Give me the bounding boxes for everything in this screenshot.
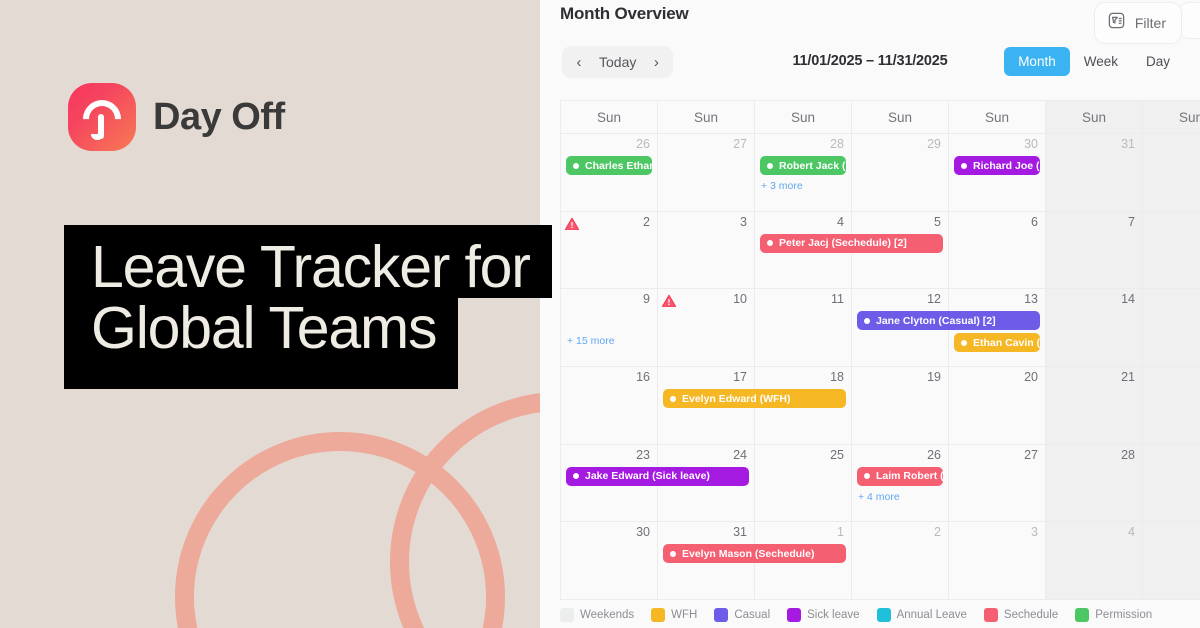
legend-label: Sick leave <box>807 609 859 621</box>
day-number: 5 <box>934 215 941 229</box>
day-cell[interactable]: 27 <box>658 134 755 212</box>
day-cell[interactable] <box>1143 445 1200 523</box>
calendar-event[interactable]: Evelyn Mason (Sechedule) <box>663 544 846 563</box>
event-status-dot <box>670 396 676 402</box>
day-number: 27 <box>1024 448 1038 462</box>
event-label: Peter Jacj (Sechedule) [2] <box>779 237 907 249</box>
app-toolbar: ‹ Today › 11/01/2025 – 11/31/2025 MonthW… <box>540 44 1200 88</box>
more-events-link[interactable]: + 3 more <box>761 180 803 192</box>
day-number: 13 <box>1024 292 1038 306</box>
event-label: Robert Jack (Pe <box>779 160 846 172</box>
day-cell[interactable]: 14 <box>1046 289 1143 367</box>
headline: Leave Tracker for Global Teams <box>64 225 552 389</box>
decor-ring-right <box>390 392 560 628</box>
day-cell[interactable] <box>1143 134 1200 212</box>
legend-item[interactable]: WFH <box>651 608 697 622</box>
calendar-body: 262728293031Charles Ethan (PRobert Jack … <box>561 134 1200 600</box>
weekday-header-0: Sun <box>561 101 658 134</box>
day-number: 31 <box>1121 137 1135 151</box>
legend-label: WFH <box>671 609 697 621</box>
day-number: 23 <box>636 448 650 462</box>
legend-swatch <box>1075 608 1089 622</box>
legend-label: Weekends <box>580 609 634 621</box>
calendar-event[interactable]: Richard Joe (Si <box>954 156 1040 175</box>
legend-label: Sechedule <box>1004 609 1058 621</box>
calendar-event[interactable]: Robert Jack (Pe <box>760 156 846 175</box>
day-number: 2 <box>934 525 941 539</box>
day-cell[interactable]: 21 <box>1046 367 1143 445</box>
headline-line-1: Leave Tracker for <box>64 225 552 298</box>
day-number: 20 <box>1024 370 1038 384</box>
legend-item[interactable]: Annual Leave <box>877 608 967 622</box>
event-label: Ethan Cavin (W <box>973 337 1040 349</box>
legend-swatch <box>560 608 574 622</box>
legend-item[interactable]: Casual <box>714 608 770 622</box>
day-number: 30 <box>636 525 650 539</box>
headline-line-2: Global Teams <box>64 298 458 389</box>
day-cell[interactable]: 9 <box>561 289 658 367</box>
calendar-event[interactable]: Evelyn Edward (WFH) <box>663 389 846 408</box>
legend-swatch <box>651 608 665 622</box>
month-calendar: SunSunSunSunSunSunSun 262728293031Charle… <box>560 100 1200 600</box>
view-option-week[interactable]: Week <box>1070 47 1132 76</box>
weekday-header-3: Sun <box>852 101 949 134</box>
calendar-week-row: 262728293031Charles Ethan (PRobert Jack … <box>561 134 1200 212</box>
day-off-logo-icon <box>68 83 136 151</box>
event-status-dot <box>573 163 579 169</box>
event-label: Jane Clyton (Casual) [2] <box>876 315 996 327</box>
day-number: 1 <box>837 525 844 539</box>
day-number: 10 <box>733 292 747 306</box>
event-status-dot <box>961 340 967 346</box>
day-cell[interactable]: 6 <box>949 212 1046 290</box>
day-cell[interactable]: 10 <box>658 289 755 367</box>
calendar-event[interactable]: Laim Robert (Sc <box>857 467 943 486</box>
weekday-header-2: Sun <box>755 101 852 134</box>
event-status-dot <box>864 318 870 324</box>
calendar-week-row: 232425262728Jake Edward (Sick leave)Laim… <box>561 445 1200 523</box>
calendar-event[interactable]: Charles Ethan (P <box>566 156 652 175</box>
weekday-header-1: Sun <box>658 101 755 134</box>
legend-swatch <box>714 608 728 622</box>
more-events-link[interactable]: + 15 more <box>567 335 615 347</box>
weekday-header-6: Sun <box>1143 101 1200 134</box>
day-cell[interactable]: 2 <box>852 522 949 600</box>
day-cell[interactable] <box>1143 522 1200 600</box>
legend-label: Annual Leave <box>897 609 967 621</box>
day-number: 19 <box>927 370 941 384</box>
event-status-dot <box>573 473 579 479</box>
legend-item[interactable]: Weekends <box>560 608 634 622</box>
day-cell[interactable]: 3 <box>949 522 1046 600</box>
event-label: Evelyn Edward (WFH) <box>682 393 791 405</box>
calendar-event[interactable]: Jane Clyton (Casual) [2] <box>857 311 1040 330</box>
weekday-header-5: Sun <box>1046 101 1143 134</box>
event-status-dot <box>864 473 870 479</box>
weekday-header-row: SunSunSunSunSunSunSun <box>561 101 1200 134</box>
day-cell[interactable]: 2 <box>561 212 658 290</box>
view-option-day[interactable]: Day <box>1132 47 1184 76</box>
day-cell[interactable]: 30 <box>561 522 658 600</box>
legend-swatch <box>984 608 998 622</box>
calendar-week-row: 161718192021Evelyn Edward (WFH) <box>561 367 1200 445</box>
brand-lockup: Day Off <box>68 83 285 151</box>
day-number: 3 <box>740 215 747 229</box>
calendar-week-row: 234567Peter Jacj (Sechedule) [2] <box>561 212 1200 290</box>
more-events-link[interactable]: + 4 more <box>858 491 900 503</box>
day-number: 12 <box>927 292 941 306</box>
legend-swatch <box>787 608 801 622</box>
day-cell[interactable]: 20 <box>949 367 1046 445</box>
day-cell[interactable] <box>1143 289 1200 367</box>
day-number: 4 <box>837 215 844 229</box>
day-number: 26 <box>927 448 941 462</box>
legend-swatch <box>877 608 891 622</box>
legend-item[interactable]: Sick leave <box>787 608 859 622</box>
day-number: 24 <box>733 448 747 462</box>
day-number: 4 <box>1128 525 1135 539</box>
day-cell[interactable]: 29 <box>852 134 949 212</box>
conflict-warning-icon[interactable] <box>564 216 580 237</box>
day-number: 14 <box>1121 292 1135 306</box>
day-cell[interactable]: 25 <box>755 445 852 523</box>
day-number: 26 <box>636 137 650 151</box>
event-status-dot <box>961 163 967 169</box>
day-cell[interactable] <box>1143 212 1200 290</box>
filter-funnel-icon <box>1107 11 1126 35</box>
day-cell[interactable]: 31 <box>1046 134 1143 212</box>
calendar-legend: WeekendsWFHCasualSick leaveAnnual LeaveS… <box>560 604 1200 626</box>
view-switcher: MonthWeekDay <box>1004 47 1184 76</box>
day-number: 30 <box>1024 137 1038 151</box>
day-number: 16 <box>636 370 650 384</box>
calendar-event[interactable]: Jake Edward (Sick leave) <box>566 467 749 486</box>
calendar-event[interactable]: Ethan Cavin (W <box>954 333 1040 352</box>
weekday-header-4: Sun <box>949 101 1046 134</box>
filter-label: Filter <box>1135 15 1166 31</box>
day-cell[interactable] <box>1143 367 1200 445</box>
event-label: Jake Edward (Sick leave) <box>585 470 710 482</box>
day-number: 7 <box>1128 215 1135 229</box>
day-number: 3 <box>1031 525 1038 539</box>
legend-label: Permission <box>1095 609 1152 621</box>
legend-item[interactable]: Permission <box>1075 608 1152 622</box>
day-cell[interactable]: 7 <box>1046 212 1143 290</box>
event-label: Charles Ethan (P <box>585 160 652 172</box>
day-number: 6 <box>1031 215 1038 229</box>
event-status-dot <box>767 240 773 246</box>
day-cell[interactable]: 28 <box>1046 445 1143 523</box>
day-cell[interactable]: 11 <box>755 289 852 367</box>
day-number: 17 <box>733 370 747 384</box>
event-label: Richard Joe (Si <box>973 160 1040 172</box>
day-number: 28 <box>830 137 844 151</box>
calendar-app-window: Month Overview Filter ‹ Today › 11/01/20… <box>540 0 1200 628</box>
day-number: 21 <box>1121 370 1135 384</box>
day-number: 18 <box>830 370 844 384</box>
calendar-event[interactable]: Peter Jacj (Sechedule) [2] <box>760 234 943 253</box>
day-number: 25 <box>830 448 844 462</box>
event-label: Evelyn Mason (Sechedule) <box>682 548 814 560</box>
event-status-dot <box>670 551 676 557</box>
day-number: 9 <box>643 292 650 306</box>
logo-tail <box>98 114 104 139</box>
decor-ring-left <box>175 432 505 628</box>
day-cell[interactable]: 19 <box>852 367 949 445</box>
event-status-dot <box>767 163 773 169</box>
day-cell[interactable]: 4 <box>1046 522 1143 600</box>
view-option-month[interactable]: Month <box>1004 47 1070 76</box>
calendar-week-row: 91011121314Jane Clyton (Casual) [2]Ethan… <box>561 289 1200 367</box>
decorative-rings <box>175 392 560 628</box>
page-title: Month Overview <box>560 4 689 24</box>
legend-item[interactable]: Sechedule <box>984 608 1058 622</box>
day-number: 27 <box>733 137 747 151</box>
filter-button[interactable]: Filter <box>1094 2 1182 44</box>
promo-panel: Day Off Leave Tracker for Global Teams <box>0 0 560 628</box>
legend-label: Casual <box>734 609 770 621</box>
conflict-warning-icon[interactable] <box>661 293 677 314</box>
day-number: 29 <box>927 137 941 151</box>
day-number: 28 <box>1121 448 1135 462</box>
day-cell[interactable]: 27 <box>949 445 1046 523</box>
day-number: 11 <box>831 292 844 306</box>
brand-name: Day Off <box>153 96 285 139</box>
event-label: Laim Robert (Sc <box>876 470 943 482</box>
day-cell[interactable]: 3 <box>658 212 755 290</box>
day-number: 31 <box>733 525 747 539</box>
day-cell[interactable]: 16 <box>561 367 658 445</box>
app-topbar: Month Overview Filter <box>540 0 1200 44</box>
calendar-week-row: 30311234Evelyn Mason (Sechedule) <box>561 522 1200 600</box>
day-number: 2 <box>643 215 650 229</box>
